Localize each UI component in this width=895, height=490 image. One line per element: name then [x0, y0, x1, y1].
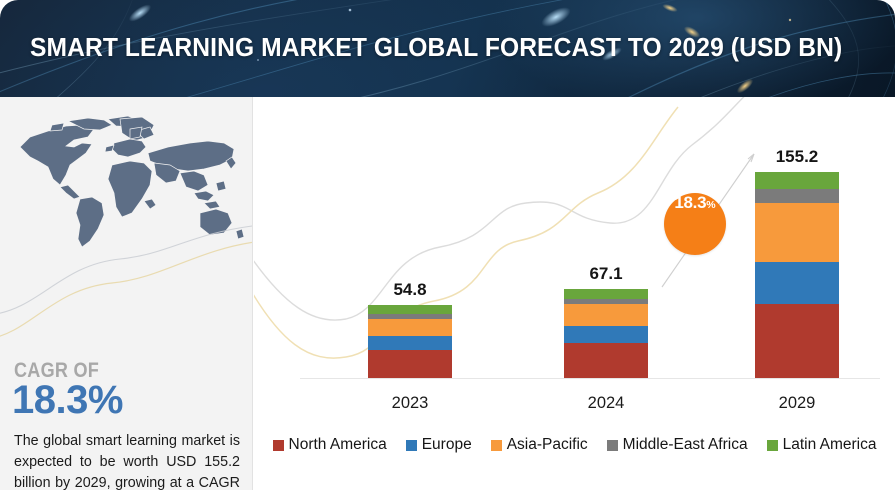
bar-value-label-2023: 54.8 — [350, 280, 470, 300]
x-axis-label-2023: 2023 — [340, 394, 480, 413]
sidebar-description: The global smart learning market is expe… — [14, 431, 240, 490]
cagr-callout-value: 18.3 — [674, 193, 706, 213]
bar-segment-north-america[interactable] — [368, 350, 452, 378]
bar-segment-europe[interactable] — [755, 262, 839, 303]
legend-item-asia-pacific[interactable]: Asia-Pacific — [491, 436, 588, 454]
bar-segment-europe[interactable] — [564, 326, 648, 343]
cagr-value: 18.3% — [12, 378, 123, 423]
bar-segment-asia-pacific[interactable] — [755, 203, 839, 262]
cagr-callout-bubble: 18.3 % — [664, 193, 726, 255]
legend-label: Europe — [422, 436, 472, 454]
legend-swatch-icon — [406, 440, 417, 451]
bar-segment-latin-america[interactable] — [755, 172, 839, 190]
bar-segment-latin-america[interactable] — [564, 289, 648, 299]
page-title: SMART LEARNING MARKET GLOBAL FORECAST TO… — [30, 0, 842, 97]
bar-segment-north-america[interactable] — [755, 304, 839, 378]
x-axis-label-2029: 2029 — [727, 394, 867, 413]
legend-label: Asia-Pacific — [507, 436, 588, 454]
chart-legend: North AmericaEuropeAsia-PacificMiddle-Ea… — [254, 432, 895, 458]
bar-value-label-2024: 67.1 — [546, 264, 666, 284]
legend-item-north-america[interactable]: North America — [273, 436, 387, 454]
infographic-root: SMART LEARNING MARKET GLOBAL FORECAST TO… — [0, 0, 895, 490]
stacked-bar-2029[interactable] — [755, 172, 839, 378]
bar-segment-asia-pacific[interactable] — [564, 304, 648, 326]
bar-segment-north-america[interactable] — [564, 343, 648, 378]
cagr-callout-suffix: % — [706, 199, 715, 211]
legend-item-europe[interactable]: Europe — [406, 436, 472, 454]
bar-segment-europe[interactable] — [368, 336, 452, 350]
legend-label: Latin America — [783, 436, 877, 454]
bar-value-label-2029: 155.2 — [737, 147, 857, 167]
stacked-bar-2024[interactable] — [564, 289, 648, 378]
legend-item-latin-america[interactable]: Latin America — [767, 436, 877, 454]
legend-swatch-icon — [273, 440, 284, 451]
legend-swatch-icon — [767, 440, 778, 451]
bar-segment-middle-east-africa[interactable] — [755, 189, 839, 203]
x-axis-label-2024: 2024 — [536, 394, 676, 413]
legend-item-middle-east-africa[interactable]: Middle-East Africa — [607, 436, 748, 454]
stacked-bar-2023[interactable] — [368, 305, 452, 378]
header-banner: SMART LEARNING MARKET GLOBAL FORECAST TO… — [0, 0, 895, 97]
sidebar-panel: CAGR OF 18.3% The global smart learning … — [0, 97, 253, 490]
legend-swatch-icon — [607, 440, 618, 451]
bar-segment-latin-america[interactable] — [368, 305, 452, 314]
legend-label: Middle-East Africa — [623, 436, 748, 454]
legend-label: North America — [289, 436, 387, 454]
legend-swatch-icon — [491, 440, 502, 451]
bar-segment-asia-pacific[interactable] — [368, 319, 452, 336]
sidebar-decorative-curves — [0, 197, 253, 337]
